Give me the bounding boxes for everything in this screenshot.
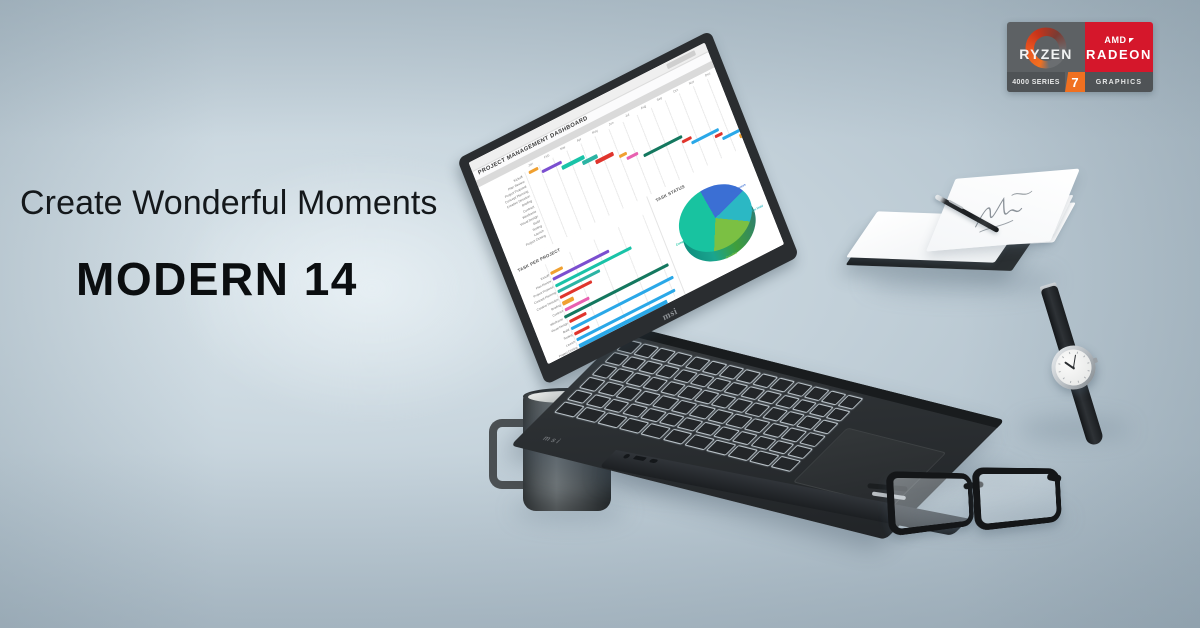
- watch-crown: [1093, 357, 1098, 363]
- radeon-panel: AMD RADEON GRAPHICS: [1085, 22, 1153, 92]
- ryzen-wordmark: RYZEN: [1019, 47, 1072, 61]
- watch-tick: [1070, 381, 1071, 383]
- amd-arrow-icon-radeon: [1129, 38, 1134, 43]
- amd-wordmark-radeon: AMD: [1104, 36, 1133, 45]
- radeon-panel-top: AMD RADEON: [1085, 22, 1153, 72]
- watch-tick: [1058, 371, 1060, 373]
- watch-center-pin: [1072, 367, 1075, 370]
- ryzen-panel: AMD RYZEN 4000 SERIES 7: [1007, 22, 1085, 92]
- pie-slice-label: On Hold: [752, 204, 764, 213]
- ryzen-panel-top: AMD RYZEN: [1007, 22, 1085, 72]
- toolbar-tab[interactable]: [666, 50, 696, 69]
- radeon-wordmark: RADEON: [1086, 48, 1152, 61]
- keyboard[interactable]: [554, 339, 863, 472]
- watch-tick: [1058, 363, 1060, 364]
- watch-tick: [1087, 362, 1089, 364]
- watch-tick: [1083, 355, 1085, 357]
- eyeglasses: [888, 457, 1073, 532]
- deck-brand-label: msi: [541, 435, 564, 445]
- watch-case: [1046, 340, 1101, 395]
- notebook: [852, 170, 1067, 290]
- usb-c-port: [649, 459, 659, 463]
- gantt-bar: [643, 135, 683, 158]
- watch-tick: [1062, 356, 1064, 358]
- gantt-bar: [626, 151, 639, 160]
- brand-label: msi: [661, 306, 679, 323]
- radeon-graphics-label: GRAPHICS: [1085, 72, 1153, 92]
- watch-tick: [1076, 352, 1077, 354]
- watch-tick: [1077, 381, 1079, 383]
- hero-banner: Create Wonderful Moments MODERN 14 AMD R…: [0, 0, 1200, 628]
- gantt-bar: [595, 152, 613, 164]
- glasses-lens-left: [886, 471, 975, 537]
- watch-face: [1051, 345, 1096, 390]
- amd-ryzen-radeon-badge: AMD RYZEN 4000 SERIES 7 AMD RADEON GRAPH…: [1007, 22, 1153, 92]
- ryzen-panel-footer: 4000 SERIES 7: [1007, 72, 1085, 92]
- ryzen-series-label: 4000 SERIES: [1007, 72, 1065, 92]
- usb-a-port: [633, 456, 647, 462]
- watch-tick: [1068, 352, 1070, 354]
- amd-wordmark-radeon-text: AMD: [1104, 36, 1126, 45]
- watch-tick: [1062, 377, 1064, 379]
- watch-tick: [1083, 377, 1085, 379]
- ryzen-tier-badge: 7: [1065, 72, 1085, 92]
- watch-tick: [1087, 370, 1089, 371]
- gantt-bar: [542, 161, 562, 174]
